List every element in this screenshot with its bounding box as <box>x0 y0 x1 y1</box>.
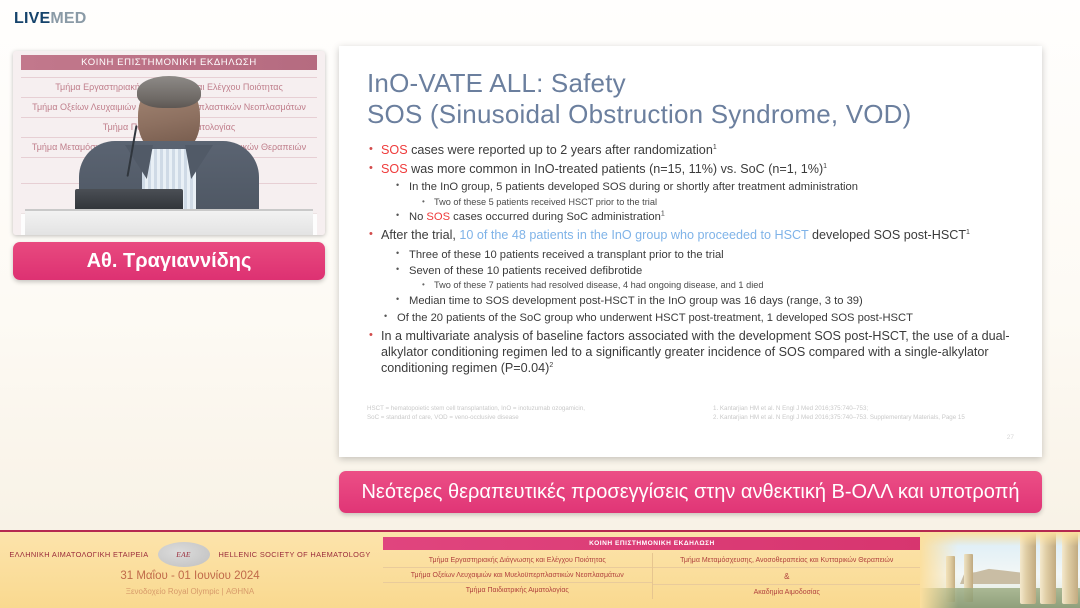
slide-footnotes: HSCT = hematopoietic stem cell transplan… <box>367 404 1018 423</box>
society-name-english: HELLENIC SOCIETY OF HAEMATOLOGY <box>219 550 371 559</box>
podium <box>25 209 313 235</box>
event-footer: ΕΛΛΗΝΙΚΗ ΑΙΜΑΤΟΛΟΓΙΚΗ ΕΤΑΙΡΕΙΑ EAE HELLE… <box>0 530 1080 608</box>
logo-med: MED <box>50 10 86 27</box>
photo-fade-top <box>920 532 1080 546</box>
reference-2: 2. Kantarjian HM et al. N Engl J Med 201… <box>713 413 1018 423</box>
session-title-banner: Νεότερες θεραπευτικές προσεγγίσεις στην … <box>339 471 1042 513</box>
sos-token: SOS <box>426 211 450 223</box>
footnote-marker: 2 <box>549 362 553 369</box>
bullet-level2: Median time to SOS development post-HSCT… <box>393 294 1018 308</box>
slide-title-line-1: InO-VATE ALL: Safety <box>367 68 1018 99</box>
bullet-level2: Seven of these 10 patients received defi… <box>393 264 1018 278</box>
society-row: ΕΛΛΗΝΙΚΗ ΑΙΜΑΤΟΛΟΓΙΚΗ ΕΤΑΙΡΕΙΑ EAE HELLE… <box>0 542 380 567</box>
bullet-text-pre: No <box>409 211 426 223</box>
bullet-level2: In the InO group, 5 patients developed S… <box>393 180 1018 194</box>
society-name-greek: ΕΛΛΗΝΙΚΗ ΑΙΜΑΤΟΛΟΓΙΚΗ ΕΤΑΙΡΕΙΑ <box>9 550 148 559</box>
footnote-abbrev-line-2: SoC = standard of care, VOD = veno-occlu… <box>367 413 585 423</box>
bullet-text: In a multivariate analysis of baseline f… <box>381 329 1010 375</box>
athens-acropolis-photo <box>920 532 1080 608</box>
footer-department: Τμήμα Παιδιατρικής Αιματολογίας <box>383 583 652 597</box>
bullet-level1: SOS was more common in InO-treated patie… <box>367 161 1018 177</box>
session-title-text: Νεότερες θεραπευτικές προσεγγίσεις στην … <box>361 481 1019 504</box>
speaker-name: Αθ. Τραγιαννίδης <box>87 250 252 273</box>
eae-logo-text: EAE <box>176 550 191 559</box>
bullet-level3: Two of these 7 patients had resolved dis… <box>419 280 1018 292</box>
bullet-text-pre: After the trial, <box>381 228 459 242</box>
bullet-level2: No SOS cases occurred during SoC adminis… <box>393 210 1018 224</box>
footer-center-title: ΚΟΙΝΗ ΕΠΙΣΤΗΜΟΝΙΚΗ ΕΚΔΗΛΩΣΗ <box>383 537 921 550</box>
footer-departments-left: Τμήμα Εργαστηριακής Διάγνωσης και Ελέγχο… <box>383 553 653 599</box>
bullet-text: developed SOS post-HSCT <box>809 228 967 242</box>
bullet-level2: Of the 20 patients of the SoC group who … <box>381 311 1018 325</box>
footnote-marker: 1 <box>661 211 665 218</box>
sos-token: SOS <box>381 143 408 157</box>
livemed-logo: LIVEMED <box>14 10 87 28</box>
highlight-token: 10 of the 48 patients in the InO group w… <box>459 228 808 242</box>
footer-department: Ακαδημία Αιμοδοσίας <box>653 585 922 599</box>
speaker-video-panel[interactable]: ΚΟΙΝΗ ΕΠΙΣΤΗΜΟΝΙΚΗ ΕΚΔΗΛΩΣΗ Τμήμα Εργαστ… <box>13 51 325 281</box>
video-player[interactable]: ΚΟΙΝΗ ΕΠΙΣΤΗΜΟΝΙΚΗ ΕΚΔΗΛΩΣΗ Τμήμα Εργαστ… <box>13 51 325 235</box>
footnote-references: 1. Kantarjian HM et al. N Engl J Med 201… <box>713 404 1018 423</box>
bullet-level1: After the trial, 10 of the 48 patients i… <box>367 227 1018 243</box>
speaker-name-badge: Αθ. Τραγιαννίδης <box>13 242 325 280</box>
footnote-abbrev-line-1: HSCT = hematopoietic stem cell transplan… <box>367 404 585 414</box>
footer-departments-right: Τμήμα Μεταμόσχευσης, Ανοσοθεραπείας και … <box>653 553 922 599</box>
reference-1: 1. Kantarjian HM et al. N Engl J Med 201… <box>713 404 1018 414</box>
bullet-level3: Two of these 5 patients received HSCT pr… <box>419 197 1018 209</box>
footer-department: Τμήμα Οξείων Λευχαιμιών και Μυελοϋπερπλα… <box>383 568 652 583</box>
slide-page-number: 27 <box>1007 434 1014 441</box>
slide-bullet-list: SOS cases were reported up to 2 years af… <box>367 142 1018 376</box>
footer-center: ΚΟΙΝΗ ΕΠΙΣΤΗΜΟΝΙΚΗ ΕΚΔΗΛΩΣΗ Τμήμα Εργαστ… <box>383 537 921 605</box>
bullet-text: was more common in InO-treated patients … <box>408 162 824 176</box>
speaker-hair <box>137 76 201 108</box>
eae-logo-icon: EAE <box>158 542 210 567</box>
footnote-marker: 1 <box>713 144 717 151</box>
event-venue: Ξενοδοχείο Royal Olympic | ΑΘΗΝΑ <box>0 587 380 596</box>
bullet-text: cases occurred during SoC administration <box>450 211 661 223</box>
footnote-marker: 1 <box>966 228 970 235</box>
slide-title: InO-VATE ALL: Safety SOS (Sinusoidal Obs… <box>367 68 1018 130</box>
slide-title-line-2: SOS (Sinusoidal Obstruction Syndrome, VO… <box>367 99 1018 130</box>
footer-department: Τμήμα Εργαστηριακής Διάγνωσης και Ελέγχο… <box>383 553 652 568</box>
bullet-level1: SOS cases were reported up to 2 years af… <box>367 142 1018 158</box>
sos-token: SOS <box>381 162 408 176</box>
footnote-marker: 1 <box>823 163 827 170</box>
bullet-level2: Three of these 10 patients received a tr… <box>393 248 1018 262</box>
footer-ampersand: & <box>653 568 922 585</box>
footer-department: Τμήμα Μεταμόσχευσης, Ανοσοθεραπείας και … <box>653 553 922 568</box>
logo-live: LIVE <box>14 10 50 27</box>
event-date: 31 Μαΐου - 01 Ιουνίου 2024 <box>0 570 380 582</box>
backdrop-title: ΚΟΙΝΗ ΕΠΙΣΤΗΜΟΝΙΚΗ ΕΚΔΗΛΩΣΗ <box>21 55 317 70</box>
bullet-text: cases were reported up to 2 years after … <box>408 143 713 157</box>
laptop <box>75 189 183 211</box>
bullet-level1: In a multivariate analysis of baseline f… <box>367 328 1018 376</box>
presentation-slide[interactable]: InO-VATE ALL: Safety SOS (Sinusoidal Obs… <box>339 46 1042 457</box>
footnote-abbreviations: HSCT = hematopoietic stem cell transplan… <box>367 404 585 423</box>
footer-left: ΕΛΛΗΝΙΚΗ ΑΙΜΑΤΟΛΟΓΙΚΗ ΕΤΑΙΡΕΙΑ EAE HELLE… <box>0 532 380 608</box>
